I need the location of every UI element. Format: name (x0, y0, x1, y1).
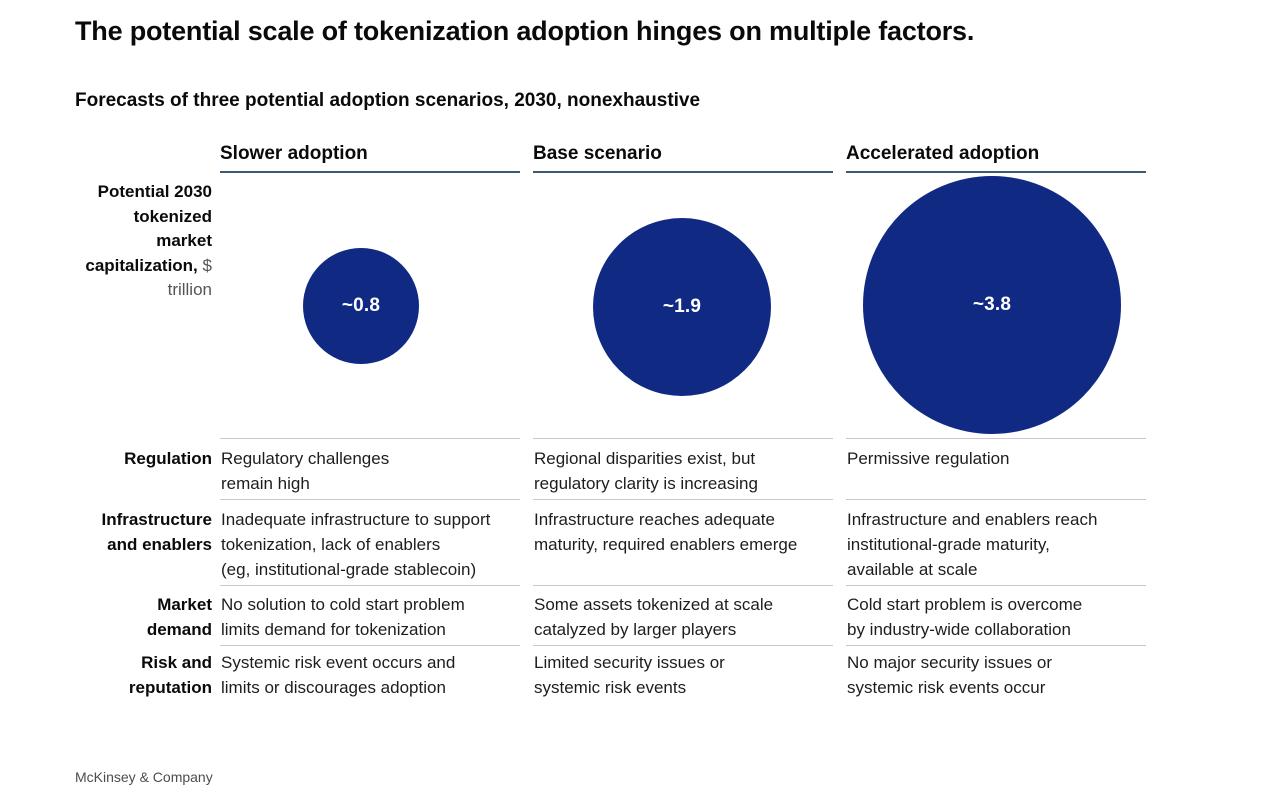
bubble-accelerated-adoption: ~3.8 (863, 176, 1121, 434)
column-header-base-scenario: Base scenario (533, 142, 833, 173)
cell-market-demand-base: Some assets tokenized at scale catalyzed… (534, 592, 854, 642)
cell-infrastructure-slower: Inadequate infrastructure to support tok… (221, 507, 541, 582)
row-divider (533, 585, 833, 586)
bubble-base-scenario: ~1.9 (593, 218, 771, 396)
row-divider (533, 438, 833, 439)
column-header-accelerated-adoption: Accelerated adoption (846, 142, 1146, 173)
slide-canvas: The potential scale of tokenization adop… (0, 0, 1280, 800)
cell-infrastructure-base: Infrastructure reaches adequate maturity… (534, 507, 854, 557)
cell-market-demand-accelerated: Cold start problem is overcome by indust… (847, 592, 1167, 642)
row-divider (846, 645, 1146, 646)
cell-regulation-base: Regional disparities exist, but regulato… (534, 446, 854, 496)
row-label-regulation: Regulation (40, 446, 212, 471)
bubble-row-label-main: Potential 2030 tokenized market capitali… (85, 182, 212, 275)
brand-footer: McKinsey & Company (75, 769, 213, 785)
row-divider (533, 499, 833, 500)
row-divider (533, 645, 833, 646)
cell-regulation-slower: Regulatory challenges remain high (221, 446, 541, 496)
bubble-value-base-scenario: ~1.9 (663, 296, 701, 318)
row-label-infrastructure-and-enablers: Infrastructure and enablers (40, 507, 212, 557)
cell-infrastructure-accelerated: Infrastructure and enablers reach instit… (847, 507, 1167, 582)
row-label-risk-and-reputation: Risk and reputation (40, 650, 212, 700)
row-divider (220, 585, 520, 586)
row-divider (220, 645, 520, 646)
page-title: The potential scale of tokenization adop… (75, 14, 1175, 48)
cell-regulation-accelerated: Permissive regulation (847, 446, 1167, 471)
column-header-slower-adoption: Slower adoption (220, 142, 520, 173)
bubble-value-accelerated-adoption: ~3.8 (973, 294, 1011, 316)
cell-risk-slower: Systemic risk event occurs and limits or… (221, 650, 541, 700)
row-divider (846, 438, 1146, 439)
bubble-row-label: Potential 2030 tokenized market capitali… (40, 180, 212, 303)
page-subtitle: Forecasts of three potential adoption sc… (75, 88, 975, 114)
bubble-slower-adoption: ~0.8 (303, 248, 419, 364)
bubble-value-slower-adoption: ~0.8 (342, 295, 380, 317)
row-divider (220, 438, 520, 439)
row-divider (846, 585, 1146, 586)
row-divider (846, 499, 1146, 500)
cell-market-demand-slower: No solution to cold start problem limits… (221, 592, 541, 642)
cell-risk-accelerated: No major security issues or systemic ris… (847, 650, 1167, 700)
cell-risk-base: Limited security issues or systemic risk… (534, 650, 854, 700)
row-divider (220, 499, 520, 500)
row-label-market-demand: Market demand (40, 592, 212, 642)
